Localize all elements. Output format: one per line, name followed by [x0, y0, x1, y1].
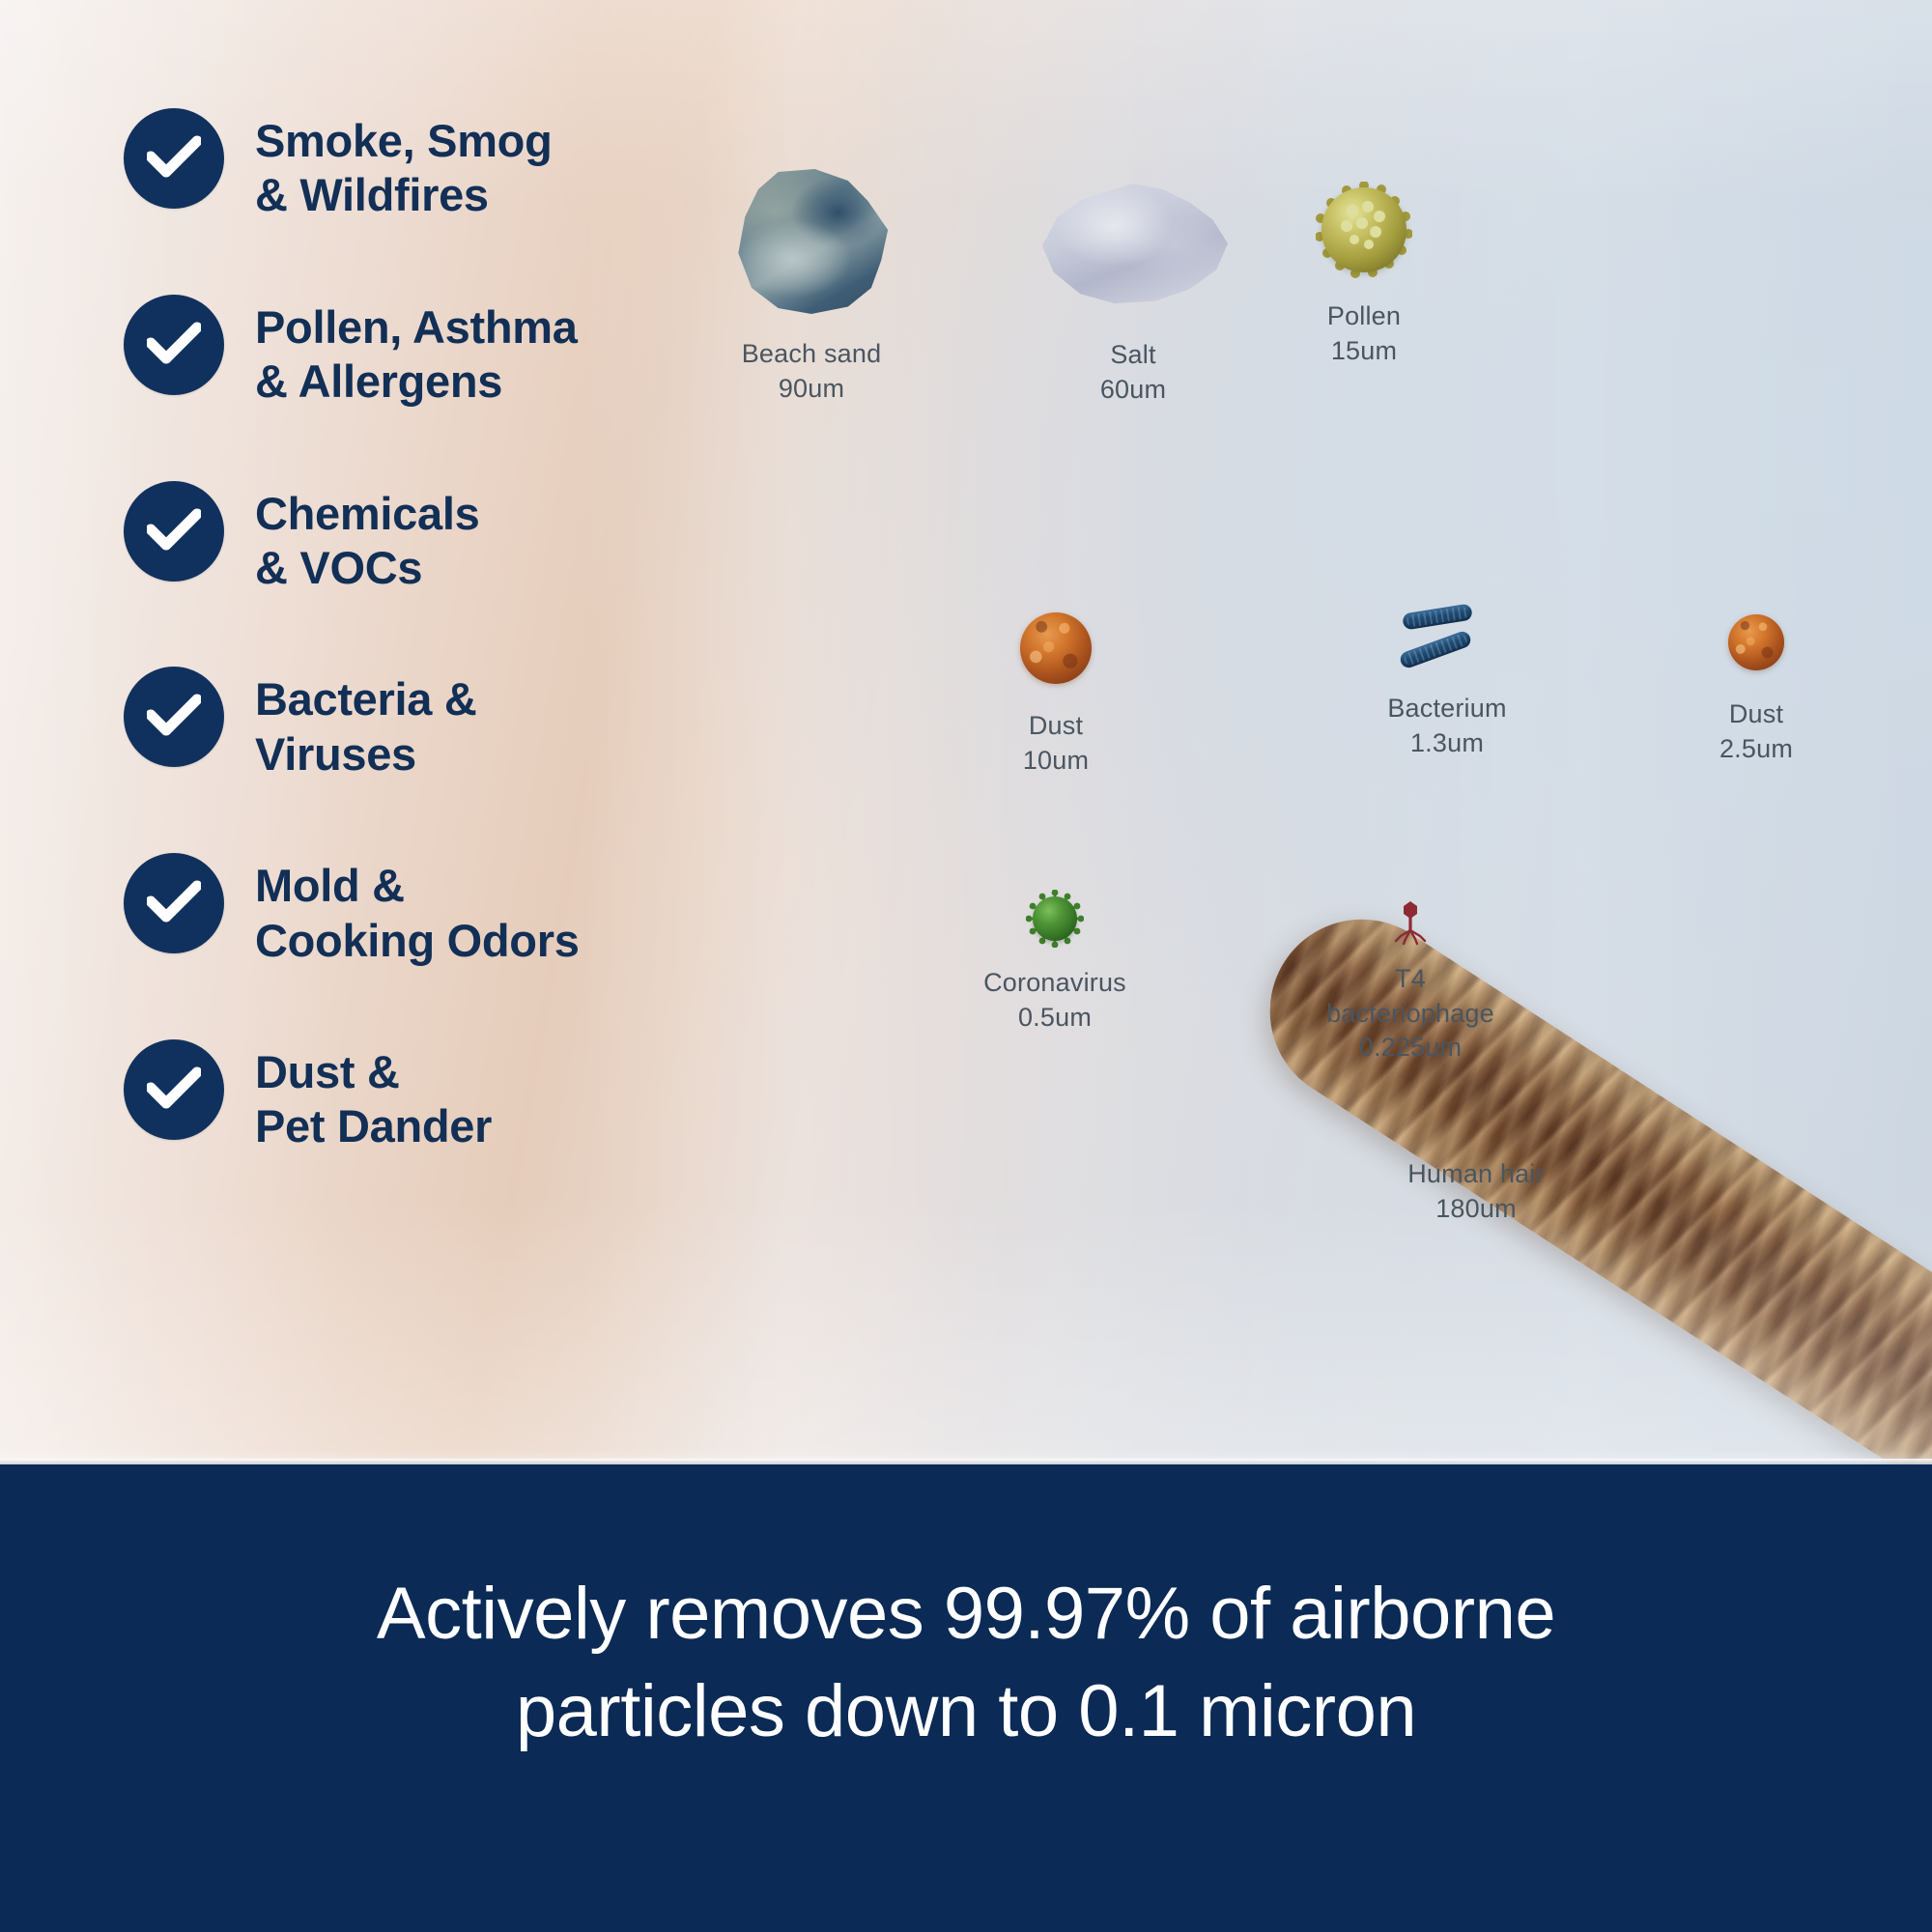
particle-pollen: Pollen 15um	[1316, 182, 1412, 368]
particle-label: Dust 2.5um	[1679, 697, 1833, 766]
dust-icon	[1728, 614, 1784, 670]
bacterium-icon	[1389, 607, 1505, 674]
feature-item-dust-pet-dander: Dust & Pet Dander	[124, 1039, 742, 1154]
particle-label: Beach sand 90um	[720, 337, 903, 406]
feature-label: Dust & Pet Dander	[255, 1039, 492, 1154]
bacteriophage-icon	[1391, 898, 1430, 947]
feature-item-chemicals-vocs: Chemicals & VOCs	[124, 481, 742, 596]
feature-item-pollen-asthma-allergens: Pollen, Asthma & Allergens	[124, 295, 742, 410]
pollen-icon	[1316, 182, 1412, 278]
particle-t4-bacteriophage: T4 bacteriophage 0.225um	[1391, 898, 1430, 1065]
claim-headline: Actively removes 99.97% of airborne part…	[0, 1565, 1932, 1760]
particle-salt: Salt 60um	[1037, 184, 1230, 407]
particle-coronavirus: Coronavirus 0.5um	[1033, 896, 1077, 1035]
sand-icon	[728, 169, 895, 314]
coronavirus-icon	[1033, 896, 1077, 941]
particle-dust-25um: Dust 2.5um	[1728, 614, 1784, 766]
check-icon	[124, 108, 224, 209]
feature-label: Bacteria & Viruses	[255, 667, 477, 781]
feature-label: Pollen, Asthma & Allergens	[255, 295, 578, 410]
particle-bacterium: Bacterium 1.3um	[1389, 607, 1505, 760]
particle-human-hair: Human hair 180um	[1331, 1157, 1621, 1226]
feature-label: Chemicals & VOCs	[255, 481, 479, 596]
particle-label: Salt 60um	[1037, 338, 1230, 407]
feature-list: Smoke, Smog & Wildfires Pollen, Asthma &…	[124, 108, 742, 1226]
claim-banner: Actively removes 99.97% of airborne part…	[0, 1464, 1932, 1932]
particle-dust-10um: Dust 10um	[1020, 612, 1092, 778]
particle-beach-sand: Beach sand 90um	[720, 169, 903, 406]
promo-graphic: Smoke, Smog & Wildfires Pollen, Asthma &…	[0, 0, 1932, 1932]
check-icon	[124, 667, 224, 767]
check-icon	[124, 295, 224, 395]
check-icon	[124, 853, 224, 953]
feature-item-smoke-smog-wildfires: Smoke, Smog & Wildfires	[124, 108, 742, 223]
particle-label: Human hair 180um	[1331, 1157, 1621, 1226]
particle-label: Coronavirus 0.5um	[939, 966, 1171, 1035]
feature-item-mold-cooking-odors: Mold & Cooking Odors	[124, 853, 742, 968]
feature-item-bacteria-viruses: Bacteria & Viruses	[124, 667, 742, 781]
particle-label: T4 bacteriophage 0.225um	[1275, 962, 1546, 1065]
check-icon	[124, 481, 224, 582]
check-icon	[124, 1039, 224, 1140]
salt-icon	[1038, 184, 1228, 303]
particle-label: Dust 10um	[979, 709, 1133, 778]
feature-label: Smoke, Smog & Wildfires	[255, 108, 553, 223]
feature-label: Mold & Cooking Odors	[255, 853, 580, 968]
particle-label: Bacterium 1.3um	[1331, 692, 1563, 760]
dust-icon	[1020, 612, 1092, 684]
particle-label: Pollen 15um	[1282, 299, 1446, 368]
